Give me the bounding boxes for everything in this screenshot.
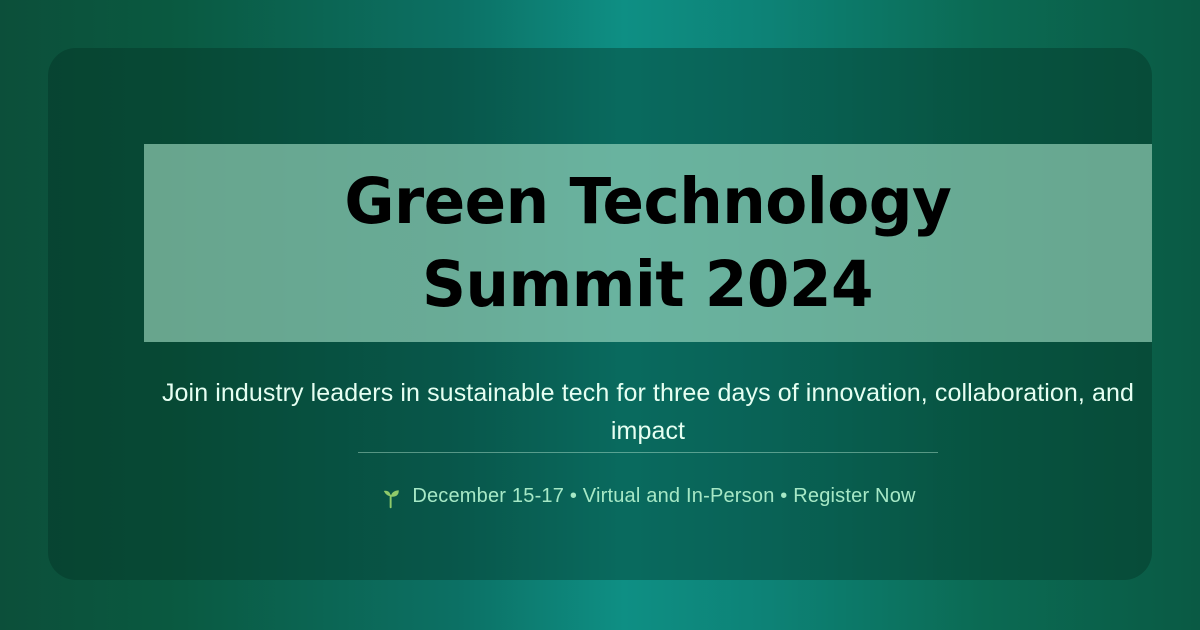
event-poster: Green Technology Summit 2024 Join indust… (0, 0, 1200, 630)
title-band: Green Technology Summit 2024 (144, 144, 1152, 342)
subtitle-text: Join industry leaders in sustainable tec… (144, 374, 1152, 450)
page-title-line-1: Green Technology (345, 160, 952, 243)
event-details-text: December 15-17 • Virtual and In-Person •… (412, 485, 915, 508)
page-title-line-2: Summit 2024 (422, 243, 873, 326)
poster-card: Green Technology Summit 2024 Join indust… (48, 48, 1152, 580)
divider (358, 452, 938, 453)
seedling-icon (380, 485, 402, 509)
event-details: December 15-17 • Virtual and In-Person •… (48, 484, 1152, 508)
